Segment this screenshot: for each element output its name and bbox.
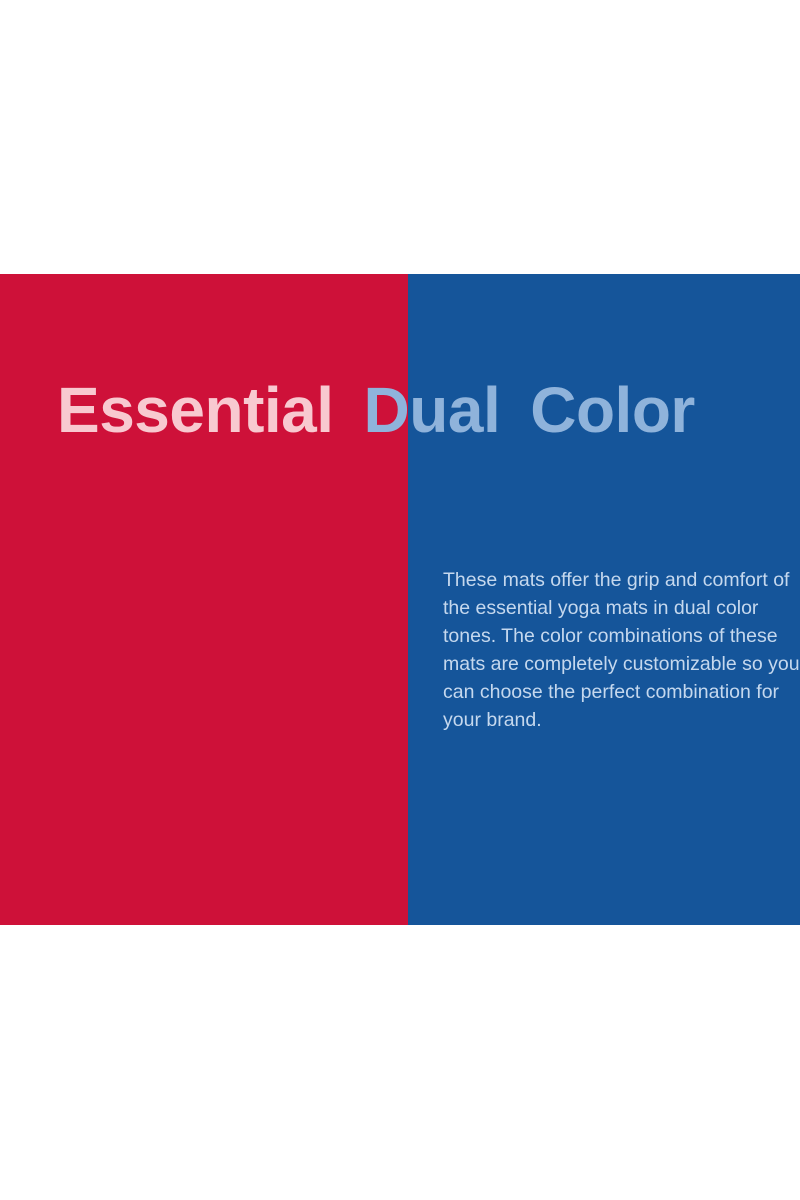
dual-color-banner: EssentialDualColor These mats offer the … [0, 274, 800, 925]
product-banner-page: EssentialDualColor These mats offer the … [0, 0, 800, 1200]
banner-description: These mats offer the grip and comfort of… [443, 566, 800, 734]
left-color-panel [0, 274, 408, 925]
